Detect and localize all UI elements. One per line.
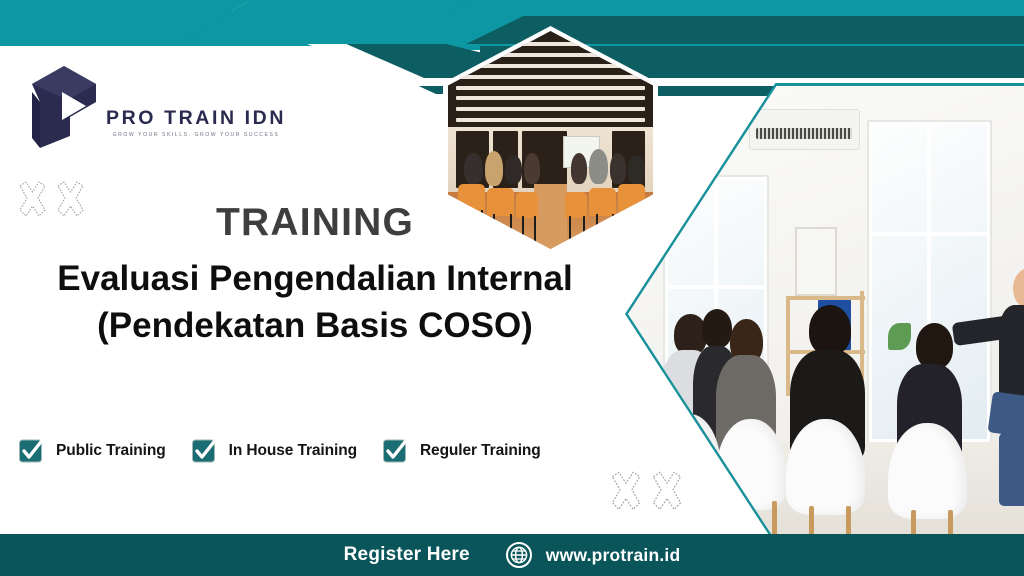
website-block[interactable]: www.protrain.id — [506, 542, 681, 568]
seminar-room-scene — [628, 86, 1024, 542]
register-here-label[interactable]: Register Here — [344, 544, 470, 566]
check-square-icon — [191, 436, 220, 465]
check-square-icon — [18, 436, 47, 465]
page-title: Evaluasi Pengendalian Internal (Pendekat… — [0, 256, 630, 349]
training-banner: PRO TRAIN IDN GROW YOUR SKILLS. GROW YOU… — [0, 0, 1024, 576]
website-url[interactable]: www.protrain.id — [546, 545, 681, 566]
training-type-badges: Public Training In House Training Regule… — [18, 436, 541, 465]
x-pattern-decoration-bottom — [608, 470, 685, 516]
badge-in-house-training[interactable]: In House Training — [191, 436, 357, 465]
brand-logo[interactable]: PRO TRAIN IDN GROW YOUR SKILLS. GROW YOU… — [18, 62, 286, 148]
badge-label: In House Training — [229, 442, 357, 460]
badge-label: Public Training — [56, 442, 166, 460]
logo-text-block: PRO TRAIN IDN GROW YOUR SKILLS. GROW YOU… — [106, 109, 286, 149]
eyebrow-training-label: TRAINING — [0, 203, 630, 242]
badge-label: Reguler Training — [420, 442, 541, 460]
check-square-icon — [382, 436, 411, 465]
logo-brand-name: PRO TRAIN IDN — [106, 109, 286, 129]
logo-tagline: GROW YOUR SKILLS. GROW YOUR SUCCESS — [106, 132, 286, 138]
badge-reguler-training[interactable]: Reguler Training — [382, 436, 541, 465]
pro-train-arrow-logo-icon — [18, 62, 102, 148]
headline-block: TRAINING Evaluasi Pengendalian Internal … — [0, 203, 630, 349]
hex-big-photo — [628, 86, 1024, 542]
x-pattern-icon — [649, 470, 685, 516]
globe-icon — [506, 542, 532, 568]
x-pattern-icon — [608, 470, 644, 516]
footer-bar: Register Here www.protrain.id — [0, 534, 1024, 576]
badge-public-training[interactable]: Public Training — [18, 436, 166, 465]
